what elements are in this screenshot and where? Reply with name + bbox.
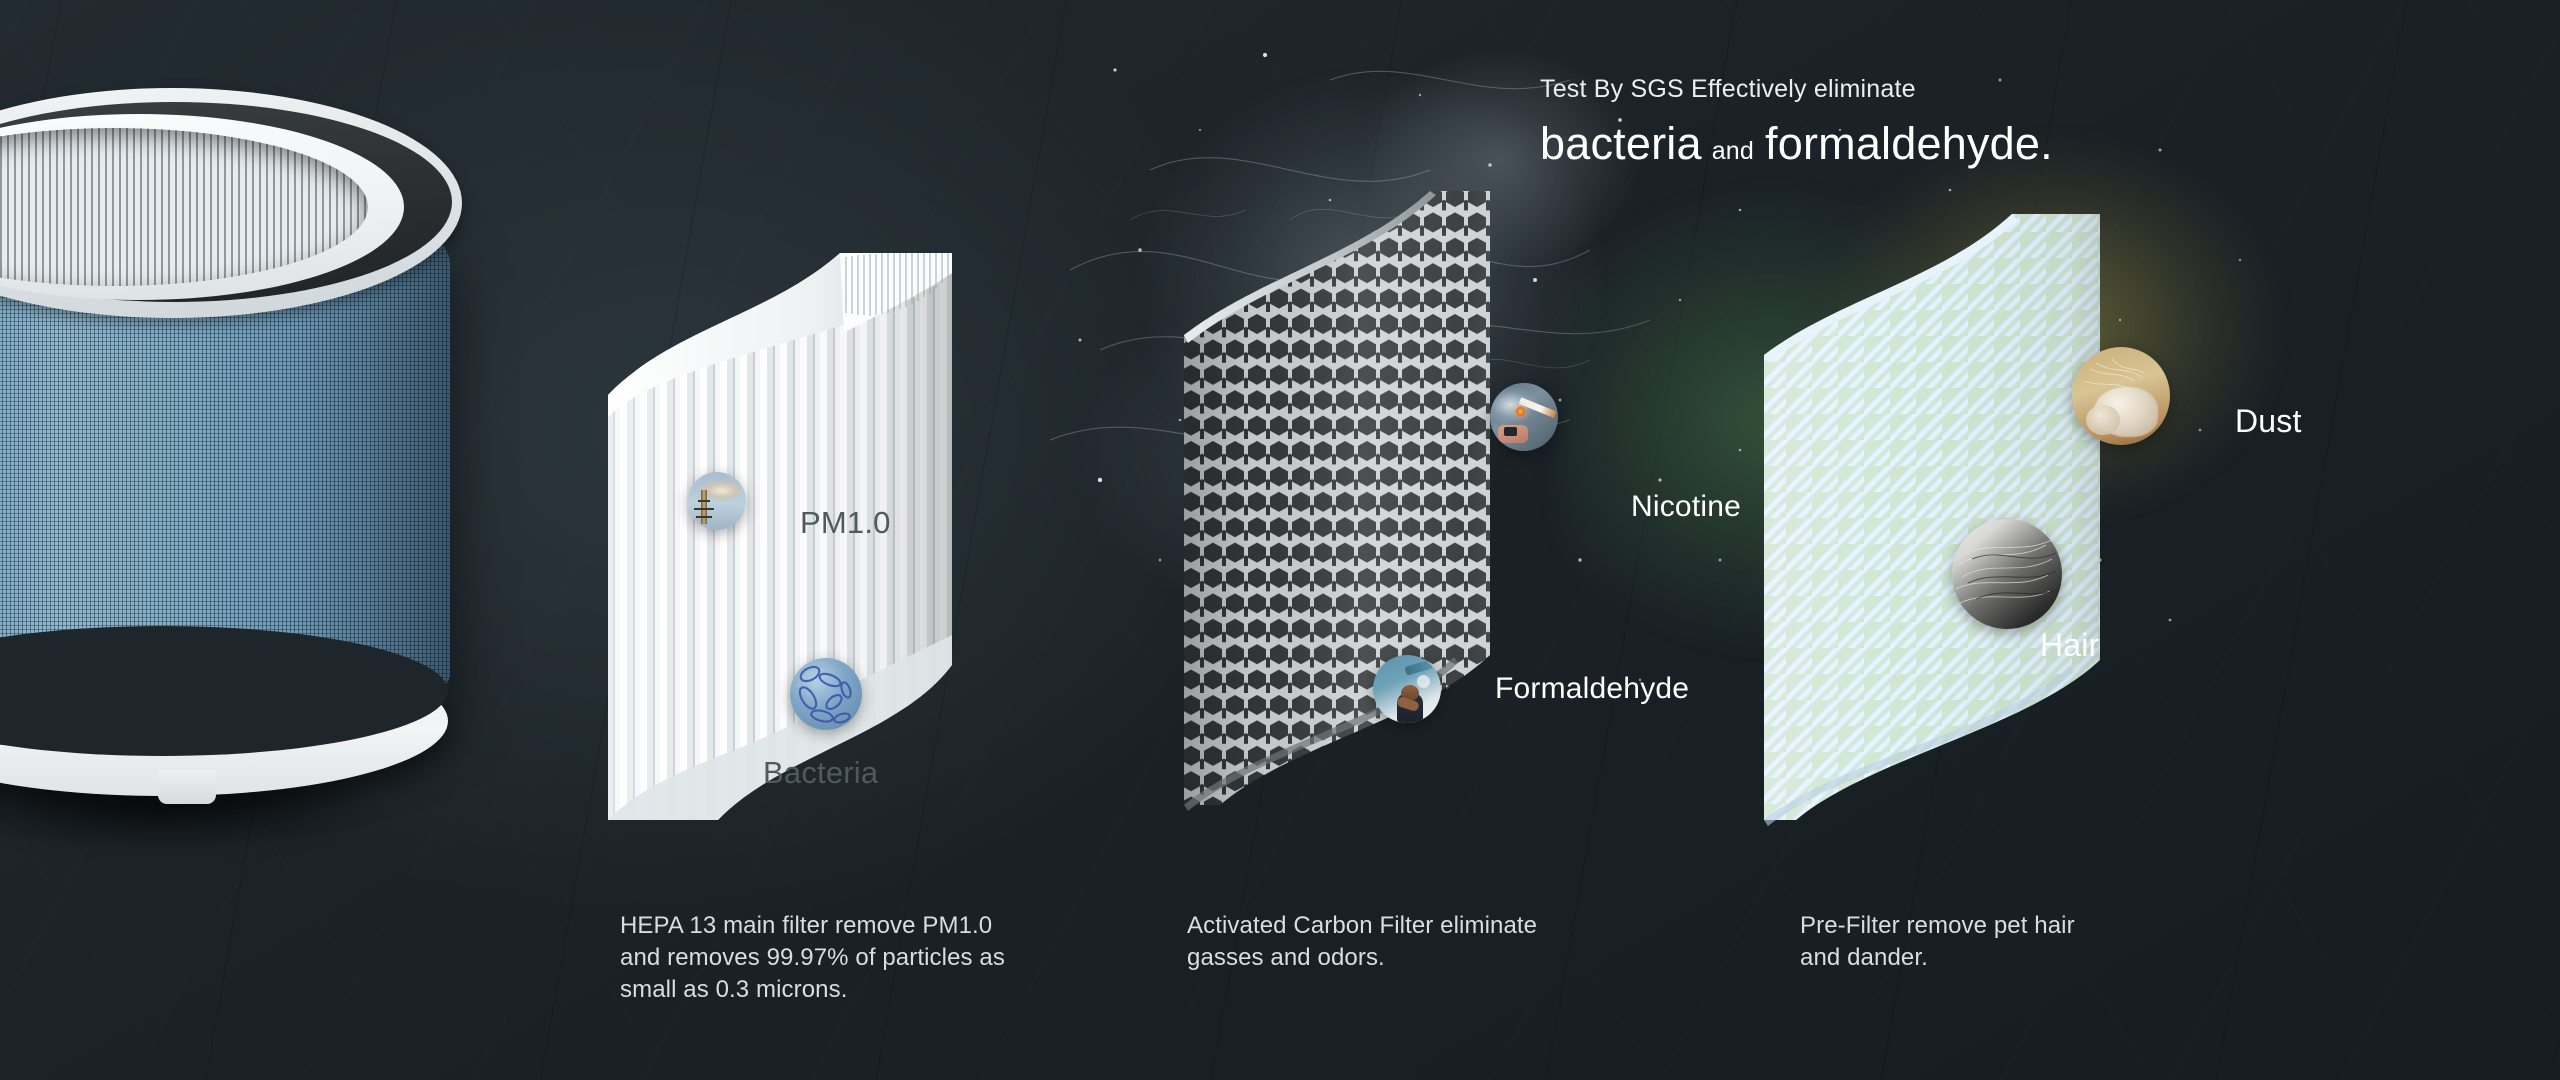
headline-word-bacteria: bacteria xyxy=(1540,118,1702,170)
pet-hair-icon xyxy=(1952,519,2062,629)
caption-carbon-line-1: Activated Carbon Filter eliminate xyxy=(1187,910,1647,942)
paint-roller-icon xyxy=(1373,655,1441,723)
badge-label-pm10: PM1.0 xyxy=(800,505,891,541)
caption-hepa-line-1: HEPA 13 main filter remove PM1.0 xyxy=(620,910,1090,942)
cigarette-smoke-icon xyxy=(1490,383,1558,451)
badge-label-nicotine: Nicotine xyxy=(1631,490,1741,524)
caption-prefilter-line-2: and dander. xyxy=(1800,942,2200,974)
badge-label-hair: Hair xyxy=(2040,627,2099,664)
caption-carbon-line-2: gasses and odors. xyxy=(1187,942,1647,974)
badge-label-dust: Dust xyxy=(2235,403,2302,440)
product-foot-tab xyxy=(158,770,216,804)
badge-label-formaldehyde: Formaldehyde xyxy=(1495,672,1689,706)
badge-formaldehyde xyxy=(1373,655,1441,723)
badge-bacteria xyxy=(790,658,862,730)
smokestack-icon xyxy=(688,472,746,530)
headline-word-formaldehyde: formaldehyde. xyxy=(1765,118,2053,170)
headline-conjunction: and xyxy=(1702,137,1765,166)
bacteria-microscope-icon xyxy=(790,658,862,730)
caption-hepa-line-3: small as 0.3 microns. xyxy=(620,974,1090,1006)
headline-eyebrow: Test By SGS Effectively eliminate xyxy=(1540,75,2053,104)
headline-main: bacteria and formaldehyde. xyxy=(1540,118,2053,170)
badge-label-bacteria: Bacteria xyxy=(763,755,878,791)
activated-carbon-filter-panel xyxy=(1180,185,1580,905)
badge-dust xyxy=(2072,347,2170,445)
product-filter-photo xyxy=(0,28,560,818)
caption-prefilter: Pre-Filter remove pet hair and dander. xyxy=(1800,910,2200,974)
badge-hair xyxy=(1952,519,2062,629)
headline-block: Test By SGS Effectively eliminate bacter… xyxy=(1540,75,2053,170)
caption-carbon: Activated Carbon Filter eliminate gasses… xyxy=(1187,910,1647,974)
product-feature-graphic: PM1.0 Bacteria xyxy=(0,0,2560,1080)
caption-hepa: HEPA 13 main filter remove PM1.0 and rem… xyxy=(620,910,1090,1006)
caption-prefilter-line-1: Pre-Filter remove pet hair xyxy=(1800,910,2200,942)
badge-nicotine xyxy=(1490,383,1558,451)
dust-clump-icon xyxy=(2072,347,2170,445)
caption-hepa-line-2: and removes 99.97% of particles as xyxy=(620,942,1090,974)
badge-pm10 xyxy=(688,472,746,530)
